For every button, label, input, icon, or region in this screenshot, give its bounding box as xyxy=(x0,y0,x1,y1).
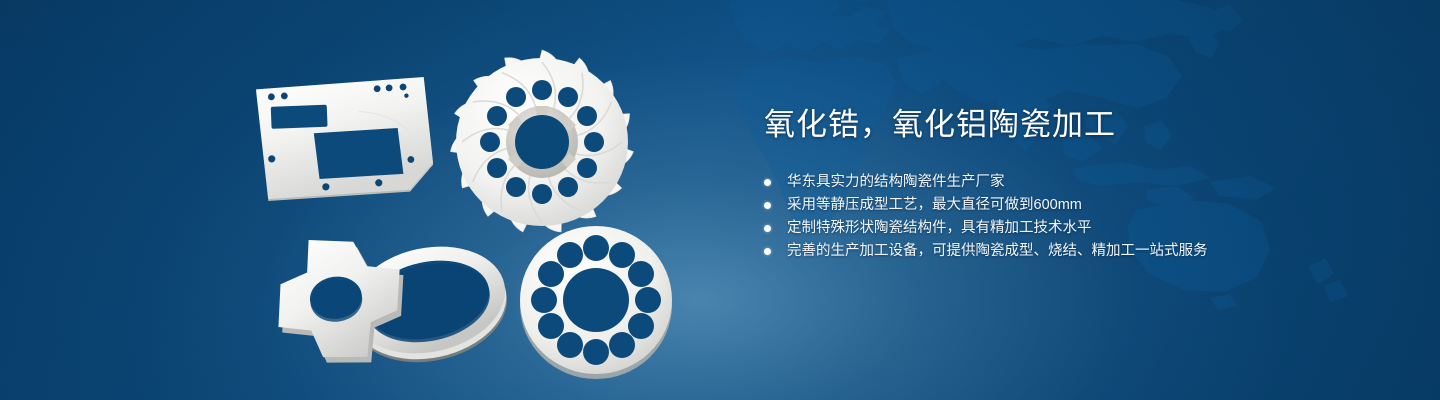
feature-item-label: 采用等静压成型工艺，最大直径可做到600mm xyxy=(787,197,1082,213)
dot-bullet-icon xyxy=(764,179,771,186)
dot-bullet-icon xyxy=(764,225,771,232)
banner-copy: 氧化锆，氧化铝陶瓷加工 华东具实力的结构陶瓷件生产厂家 采用等静压成型工艺，最大… xyxy=(764,108,1364,263)
feature-list: 华东具实力的结构陶瓷件生产厂家 采用等静压成型工艺，最大直径可做到600mm 定… xyxy=(764,171,1364,263)
feature-item: 完善的生产加工设备，可提供陶瓷成型、烧结、精加工一站式服务 xyxy=(764,240,1364,263)
dot-bullet-icon xyxy=(764,248,771,255)
feature-item: 定制特殊形状陶瓷结构件，具有精加工技术水平 xyxy=(764,217,1364,240)
product-image-cluster xyxy=(0,0,760,400)
dot-bullet-icon xyxy=(764,202,771,209)
feature-item: 采用等静压成型工艺，最大直径可做到600mm xyxy=(764,194,1364,217)
feature-item-label: 完善的生产加工设备，可提供陶瓷成型、烧结、精加工一站式服务 xyxy=(787,243,1208,259)
feature-item: 华东具实力的结构陶瓷件生产厂家 xyxy=(764,171,1364,194)
ceramic-perforated-disc xyxy=(508,218,684,382)
ceramic-mounting-plate xyxy=(248,72,444,204)
banner-headline: 氧化锆，氧化铝陶瓷加工 xyxy=(764,108,1364,143)
ceramic-cross-and-ring xyxy=(246,212,536,382)
hero-banner: 氧化锆，氧化铝陶瓷加工 华东具实力的结构陶瓷件生产厂家 采用等静压成型工艺，最大… xyxy=(0,0,1440,400)
feature-item-label: 定制特殊形状陶瓷结构件，具有精加工技术水平 xyxy=(787,220,1092,236)
feature-item-label: 华东具实力的结构陶瓷件生产厂家 xyxy=(787,174,1005,190)
